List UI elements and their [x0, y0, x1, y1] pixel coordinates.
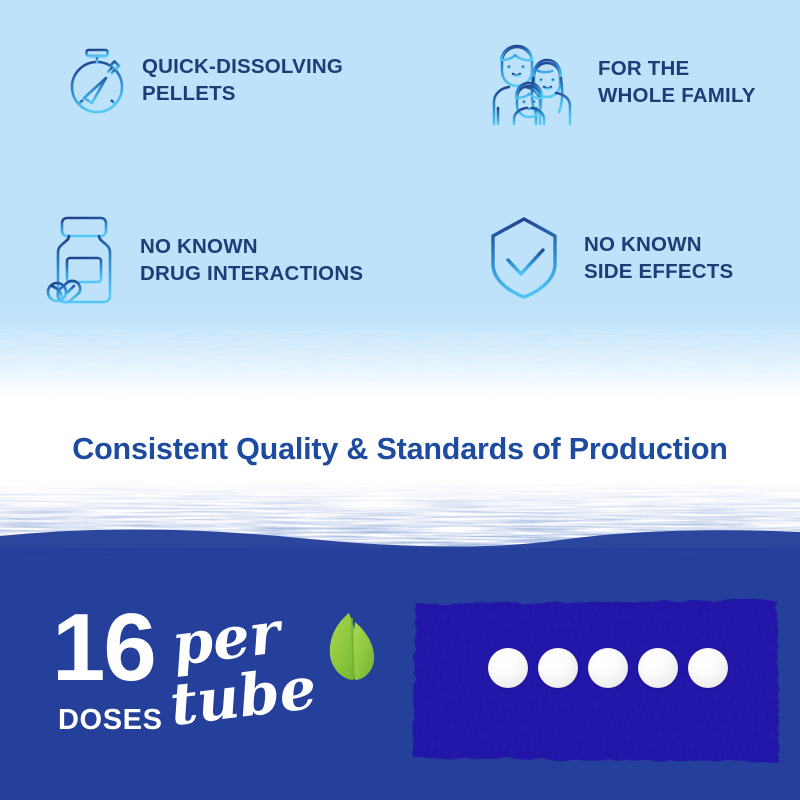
- pellet-icon: [588, 648, 628, 688]
- script-line-tube: tube: [167, 659, 319, 734]
- headline-band: [0, 395, 800, 560]
- leaf-icon: [317, 610, 383, 682]
- per-tube-script: per tube: [174, 592, 384, 752]
- page-title: Consistent Quality & Standards of Produc…: [0, 432, 800, 467]
- pellet-icon: [538, 648, 578, 688]
- pellet-row: [488, 645, 728, 691]
- product-feature-infographic: QUICK-DISSOLVING PELLETS: [0, 0, 800, 800]
- feature-grid: QUICK-DISSOLVING PELLETS: [0, 0, 800, 340]
- feature-item-whole-family: FOR THE WHOLE FAMILY: [484, 38, 756, 126]
- feature-label: NO KNOWN SIDE EFFECTS: [584, 231, 733, 286]
- stopwatch-icon: [48, 38, 126, 122]
- feature-item-quick-dissolving: QUICK-DISSOLVING PELLETS: [48, 38, 343, 122]
- feature-label: FOR THE WHOLE FAMILY: [598, 55, 756, 110]
- shield-check-icon: [486, 212, 562, 304]
- pellet-icon: [638, 648, 678, 688]
- feature-item-no-drug-interactions: NO KNOWN DRUG INTERACTIONS: [44, 212, 363, 308]
- feature-item-no-side-effects: NO KNOWN SIDE EFFECTS: [486, 212, 733, 304]
- dose-unit-label: DOSES: [58, 704, 163, 737]
- pill-bottle-icon: [44, 212, 124, 308]
- pellet-icon: [488, 648, 528, 688]
- family-icon: [484, 38, 580, 126]
- dose-count-block: 16 DOSES per tube: [52, 600, 382, 760]
- pellet-icon: [688, 648, 728, 688]
- dose-number: 16: [52, 600, 155, 696]
- feature-label: NO KNOWN DRUG INTERACTIONS: [140, 233, 363, 288]
- feature-label: QUICK-DISSOLVING PELLETS: [142, 53, 343, 108]
